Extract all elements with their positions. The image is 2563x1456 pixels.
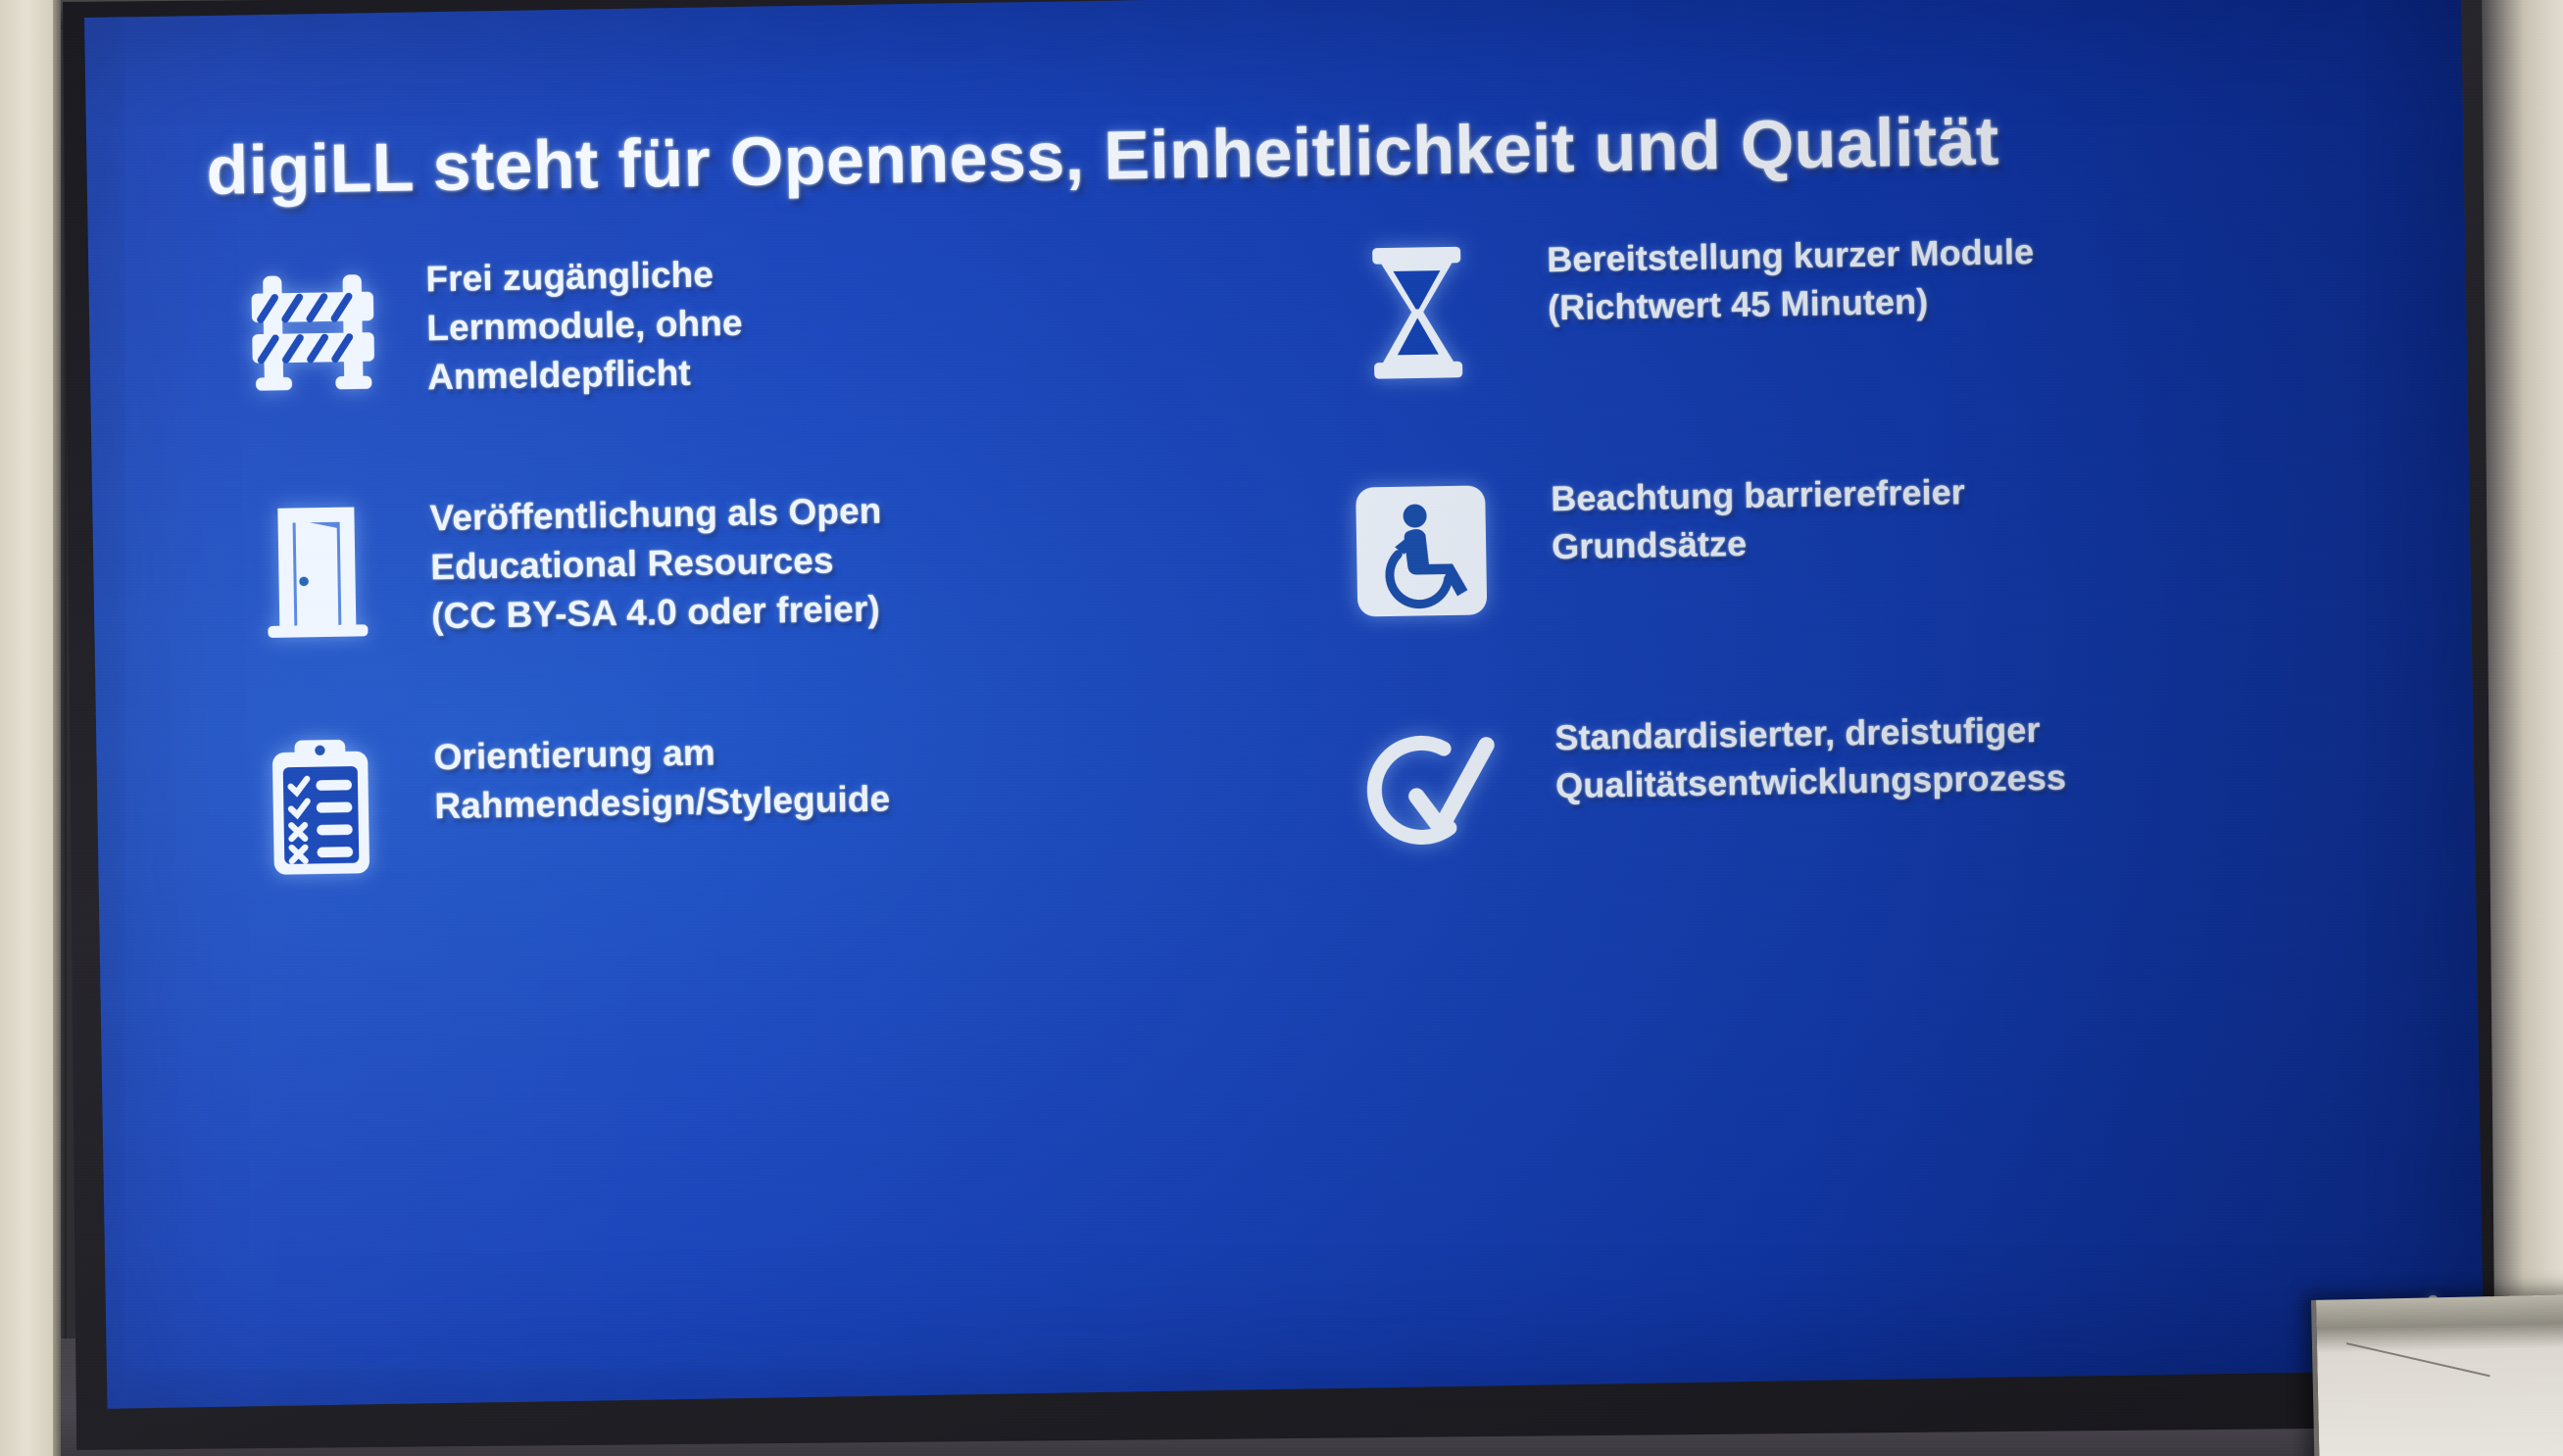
feature-text: Veröffentlichung als Open Educational Re… [412,470,1261,641]
feature-text: Orientierung am Rahmendesign/Styleguide [416,709,1264,831]
wheelchair-accessibility-icon [1317,466,1526,636]
cycle-check-icon [1321,705,1530,875]
flipchart-crease [2346,1342,2490,1377]
photo-of-projection-screen: digiLL steht für Openness, Einheitlichke… [0,0,2563,1456]
open-door-icon [220,485,415,655]
road-barrier-icon [216,246,411,415]
clipboard-checklist-icon [223,723,419,893]
slide-title: digiLL steht für Openness, Einheitlichke… [206,97,2363,208]
presentation-slide: digiLL steht für Openness, Einheitlichke… [84,0,2484,1409]
feature-item-frei-zugaengliche-lernmodule: Frei zugängliche Lernmodule, ohne Anmeld… [216,231,1258,488]
feature-text: Bereitstellung kurzer Module (Richtwert … [1519,214,2354,332]
feature-item-bereitstellung-kurzer-module: Bereitstellung kurzer Module (Richtwert … [1313,214,2356,470]
wall-left [0,0,61,1456]
feature-item-rahmendesign-styleguide: Orientierung am Rahmendesign/Styleguide [223,709,1266,966]
feature-item-veroeffentlichung-als-oer: Veröffentlichung als Open Educational Re… [220,470,1262,727]
hourglass-icon [1313,227,1522,397]
feature-item-barrierefreiheit: Beachtung barrierefreier Grundsätze [1317,453,2360,709]
feature-text: Standardisierter, dreistufiger Qualitäts… [1527,692,2362,810]
feature-text: Beachtung barrierefreier Grundsätze [1523,453,2358,571]
flipchart-corner-foreground [2311,1294,2563,1456]
feature-grid: Frei zugängliche Lernmodule, ohne Anmeld… [216,214,2364,966]
feature-text: Frei zugängliche Lernmodule, ohne Anmeld… [408,231,1257,402]
feature-item-qualitaetsentwicklungsprozess: Standardisierter, dreistufiger Qualitäts… [1321,692,2364,948]
